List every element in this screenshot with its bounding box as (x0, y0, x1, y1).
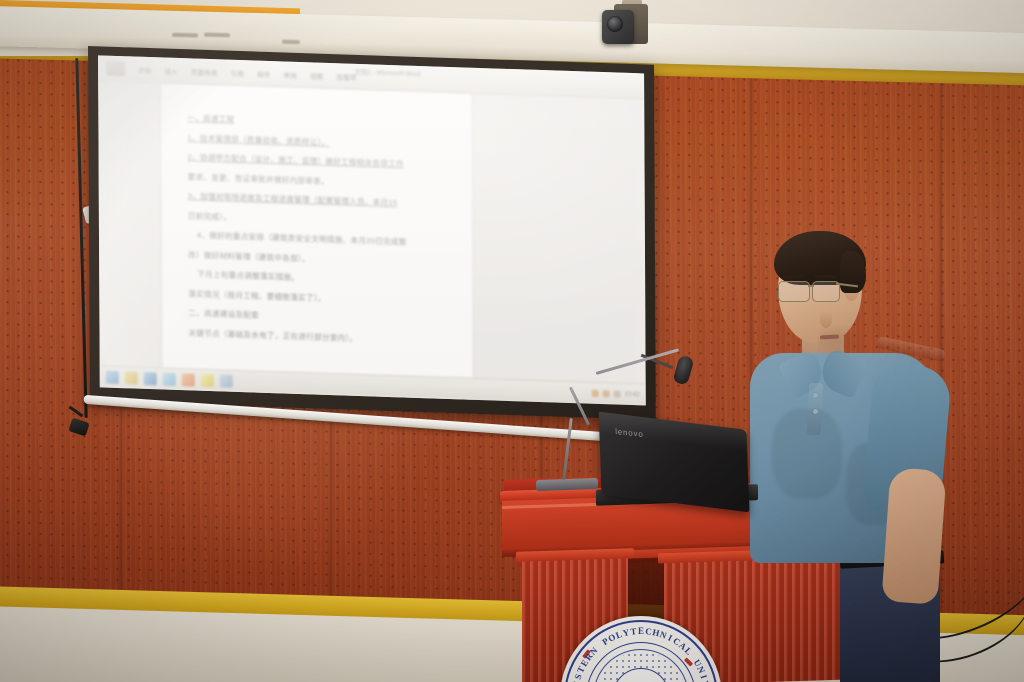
ribbon-tab-start[interactable]: 开始 (138, 64, 151, 74)
ceiling-vent-slot (172, 33, 198, 38)
mail-icon[interactable] (182, 373, 195, 386)
notes-icon[interactable] (201, 374, 214, 387)
emblem-char: S (573, 673, 584, 681)
start-button-icon[interactable] (106, 371, 119, 384)
presenter-nose (820, 311, 832, 328)
ceiling-fixture-mark (282, 40, 300, 44)
word-document-icon[interactable] (220, 374, 233, 387)
camera-lens-icon (607, 16, 623, 32)
taskbar-spacer (239, 382, 586, 394)
media-icon[interactable] (163, 372, 176, 385)
shirt-button (813, 409, 818, 414)
projection-screen-frame: 开始 插入 页面布局 引用 邮件 审阅 视图 加载项 文档1 - Microso… (88, 46, 656, 420)
presenter (740, 225, 960, 682)
microphone-base[interactable] (536, 478, 598, 491)
emblem-char: T (630, 626, 637, 637)
system-tray[interactable]: 10:42 (592, 390, 640, 399)
ribbon-tab-addins[interactable]: 加载项 (336, 71, 356, 82)
word-window-title: 文档1 - Microsoft Word (355, 66, 421, 78)
presenter-hair-side (840, 251, 866, 293)
shirt-button (813, 393, 818, 398)
ceiling-vent-slot (204, 33, 230, 38)
volume-icon[interactable] (603, 390, 610, 397)
emblem-char: E (638, 626, 644, 636)
surveillance-camera (596, 0, 652, 50)
taskbar-clock: 10:42 (625, 391, 640, 397)
ribbon-tab-view[interactable]: 视图 (310, 70, 323, 80)
emblem-char: I (699, 674, 710, 680)
university-emblem: NORTHWESTERNPOLYTECHNICALUNIVERSITY (560, 616, 722, 682)
ribbon-tab-insert[interactable]: 插入 (164, 65, 177, 75)
projection-screen: 开始 插入 页面布局 引用 邮件 审阅 视图 加载项 文档1 - Microso… (88, 46, 656, 420)
emblem-arc-text: NORTHWESTERNPOLYTECHNICALUNIVERSITY (560, 616, 722, 682)
network-icon[interactable] (592, 390, 599, 397)
document-right-margin (471, 94, 645, 384)
ribbon-tab-review[interactable]: 审阅 (284, 69, 297, 79)
projection-screen-surface: 开始 插入 页面布局 引用 邮件 审阅 视图 加载项 文档1 - Microso… (98, 55, 646, 405)
ribbon-tab-mailings[interactable]: 邮件 (257, 68, 270, 78)
laptop-brand-logo: lenovo (615, 427, 644, 439)
input-method-icon[interactable] (614, 390, 621, 397)
presenter-right-arm (881, 467, 946, 605)
ribbon-tab-layout[interactable]: 页面布局 (191, 66, 218, 77)
glasses-bridge (808, 285, 814, 287)
folder-icon[interactable] (125, 371, 138, 384)
projected-image: 开始 插入 页面布局 引用 邮件 审阅 视图 加载项 文档1 - Microso… (98, 55, 646, 405)
document-left-margin (98, 81, 162, 367)
ribbon-tab-references[interactable]: 引用 (231, 67, 244, 77)
glasses-lens-left (778, 281, 810, 302)
lecture-hall-photo: 开始 插入 页面布局 引用 邮件 审阅 视图 加载项 文档1 - Microso… (0, 0, 1024, 682)
office-orb-icon[interactable] (106, 61, 125, 77)
word-application-window: 开始 插入 页面布局 引用 邮件 审阅 视图 加载项 文档1 - Microso… (98, 55, 646, 405)
browser-icon[interactable] (144, 372, 157, 385)
emblem-char: Y (622, 627, 631, 638)
document-body: 一、高速工程 1、技术管理部（质量验收、资质转让）。 2、协调甲方配合（设计、施… (161, 83, 472, 351)
word-document-page[interactable]: 一、高速工程 1、技术管理部（质量验收、资质转让）。 2、协调甲方配合（设计、施… (161, 83, 473, 402)
